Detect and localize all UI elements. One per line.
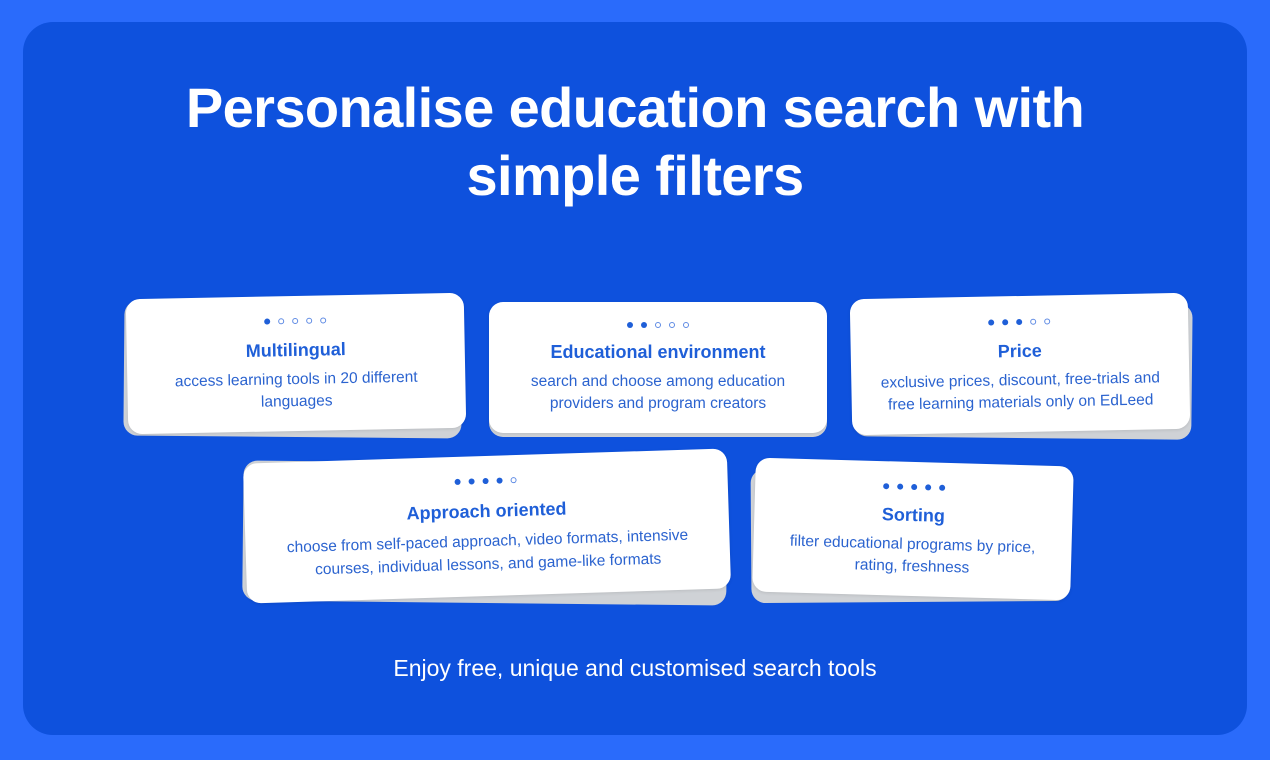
dot-filled (455, 479, 461, 485)
dot-empty (683, 322, 689, 328)
dot-empty (669, 322, 675, 328)
dot-filled (469, 478, 475, 484)
card-surface[interactable]: Price exclusive prices, discount, free-t… (850, 293, 1191, 435)
dot-filled (911, 483, 917, 489)
feature-card-price[interactable]: Price exclusive prices, discount, free-t… (850, 293, 1191, 435)
dot-filled (264, 318, 270, 324)
dot-filled (1002, 319, 1008, 325)
card-surface[interactable]: Multilingual access learning tools in 20… (126, 293, 467, 434)
card-description: search and choose among education provid… (507, 371, 809, 415)
card-description: filter educational programs by price, ra… (771, 530, 1054, 582)
progress-dots-multilingual (264, 315, 326, 326)
dot-empty (278, 318, 284, 324)
card-title: Approach oriented (406, 497, 567, 526)
dot-filled (496, 477, 502, 483)
dot-filled (627, 322, 633, 328)
footer-tagline: Enjoy free, unique and customised search… (23, 652, 1247, 684)
progress-dots-sorting (883, 481, 945, 492)
card-surface[interactable]: Sorting filter educational programs by p… (752, 458, 1074, 601)
feature-card-sorting[interactable]: Sorting filter educational programs by p… (752, 458, 1074, 601)
content-panel: Personalise education search with simple… (23, 22, 1247, 735)
dot-filled (1016, 318, 1022, 324)
page-title: Personalise education search with simple… (23, 74, 1247, 210)
dot-empty (292, 318, 298, 324)
card-title: Multilingual (246, 337, 346, 363)
dot-filled (925, 484, 931, 490)
feature-card-approach-oriented[interactable]: Approach oriented choose from self-paced… (243, 448, 731, 603)
dot-empty (320, 317, 326, 323)
dot-empty (1030, 318, 1036, 324)
card-description: exclusive prices, discount, free-trials … (869, 367, 1172, 417)
progress-dots-price (988, 315, 1050, 327)
dot-filled (883, 483, 889, 489)
progress-dots-educational-environment (627, 322, 689, 328)
card-description: access learning tools in 20 different la… (145, 366, 448, 416)
card-surface[interactable]: Approach oriented choose from self-paced… (243, 448, 731, 603)
dot-empty (655, 322, 661, 328)
card-title: Sorting (882, 502, 946, 528)
dot-filled (939, 484, 945, 490)
dot-filled (482, 478, 488, 484)
dot-filled (988, 319, 994, 325)
dot-empty (1044, 318, 1050, 324)
dot-filled (897, 483, 903, 489)
card-title: Price (997, 339, 1041, 364)
dot-empty (306, 318, 312, 324)
feature-card-multilingual[interactable]: Multilingual access learning tools in 20… (126, 293, 467, 434)
promo-slide: Personalise education search with simple… (0, 0, 1270, 760)
feature-card-educational-environment[interactable]: Educational environment search and choos… (489, 302, 827, 433)
dot-empty (510, 477, 516, 483)
progress-dots-approach-oriented (454, 474, 516, 488)
card-description: choose from self-paced approach, video f… (263, 523, 712, 583)
dot-filled (641, 322, 647, 328)
card-surface[interactable]: Educational environment search and choos… (489, 302, 827, 433)
card-title: Educational environment (550, 340, 765, 364)
